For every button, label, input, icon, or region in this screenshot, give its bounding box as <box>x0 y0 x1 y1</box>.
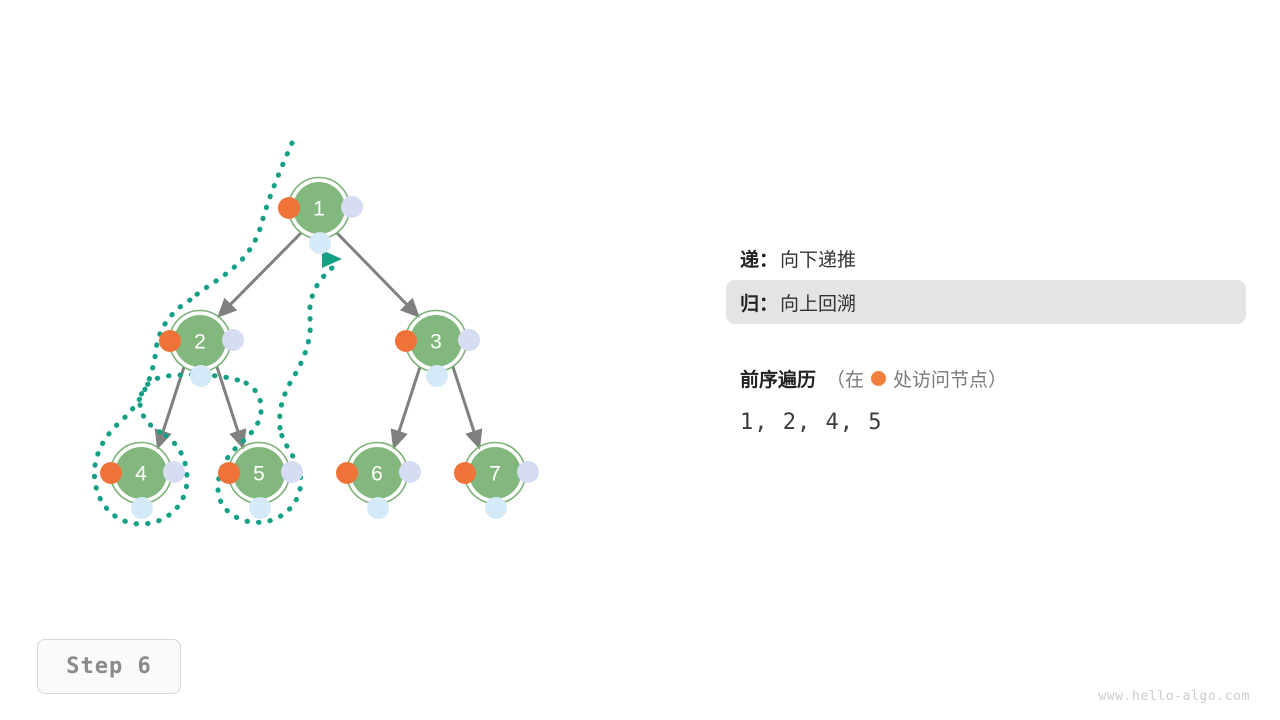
visit-dot-icon <box>871 371 886 386</box>
traversal-sequence: 1, 2, 4, 5 <box>726 410 1246 435</box>
diagram-canvas: 1 2 3 4 <box>0 0 1280 720</box>
edge-1-3 <box>337 233 418 316</box>
traversal-header: 前序遍历 （在 处访问节点） <box>726 358 1246 398</box>
tree-node-7[interactable]: 7 <box>454 443 539 520</box>
node-6-bottom-dot <box>367 497 389 519</box>
legend-recurse-key: 递： <box>740 245 778 272</box>
traversal-note-after: 处访问节点） <box>893 365 1007 392</box>
traversal-note-before: （在 <box>826 365 864 392</box>
edge-3-6 <box>394 367 420 447</box>
legend-backtrack-value: 向上回溯 <box>780 289 856 316</box>
node-6-visit-dot <box>336 462 358 484</box>
node-6-right-dot <box>399 461 421 483</box>
node-1-bottom-dot <box>309 232 331 254</box>
node-5-label: 5 <box>253 463 265 486</box>
node-4-label: 4 <box>135 463 147 486</box>
node-1-right-dot <box>341 196 363 218</box>
node-7-label: 7 <box>489 463 501 486</box>
node-7-visit-dot <box>454 462 476 484</box>
node-2-visit-dot <box>159 330 181 352</box>
node-7-right-dot <box>517 461 539 483</box>
watermark: www.hello-algo.com <box>1098 689 1250 704</box>
legend-row-recurse: 递： 向下递推 <box>726 236 1246 280</box>
node-3-visit-dot <box>395 330 417 352</box>
node-1-label: 1 <box>313 198 325 221</box>
edge-3-7 <box>453 367 479 447</box>
legend-panel: 递： 向下递推 归： 向上回溯 <box>726 236 1246 324</box>
node-4-bottom-dot <box>131 497 153 519</box>
traversal-panel: 前序遍历 （在 处访问节点） 1, 2, 4, 5 <box>726 358 1246 435</box>
legend-backtrack-key: 归： <box>740 289 778 316</box>
node-3-bottom-dot <box>426 365 448 387</box>
tree-node-3[interactable]: 3 <box>395 311 480 388</box>
edge-2-4 <box>158 367 184 447</box>
traversal-title: 前序遍历 <box>740 365 816 392</box>
legend-row-backtrack: 归： 向上回溯 <box>726 280 1246 324</box>
node-5-bottom-dot <box>249 497 271 519</box>
node-5-visit-dot <box>218 462 240 484</box>
node-3-label: 3 <box>430 331 442 354</box>
node-4-right-dot <box>163 461 185 483</box>
node-4-visit-dot <box>100 462 122 484</box>
node-2-right-dot <box>222 329 244 351</box>
node-5-right-dot <box>281 461 303 483</box>
tree-node-2[interactable]: 2 <box>159 311 244 388</box>
node-3-right-dot <box>458 329 480 351</box>
node-7-bottom-dot <box>485 497 507 519</box>
recursion-path-return-node2 <box>280 268 332 428</box>
recursion-path-down <box>190 143 292 300</box>
node-2-bottom-dot <box>190 365 212 387</box>
legend-recurse-value: 向下递推 <box>780 245 856 272</box>
node-1-visit-dot <box>278 197 300 219</box>
tree-node-4[interactable]: 4 <box>100 443 185 520</box>
traversal-note: （在 处访问节点） <box>826 365 1007 392</box>
edge-1-2 <box>219 233 301 316</box>
node-6-label: 6 <box>371 463 383 486</box>
node-2-label: 2 <box>194 331 206 354</box>
step-badge: Step 6 <box>37 639 181 694</box>
tree-node-6[interactable]: 6 <box>336 443 421 520</box>
